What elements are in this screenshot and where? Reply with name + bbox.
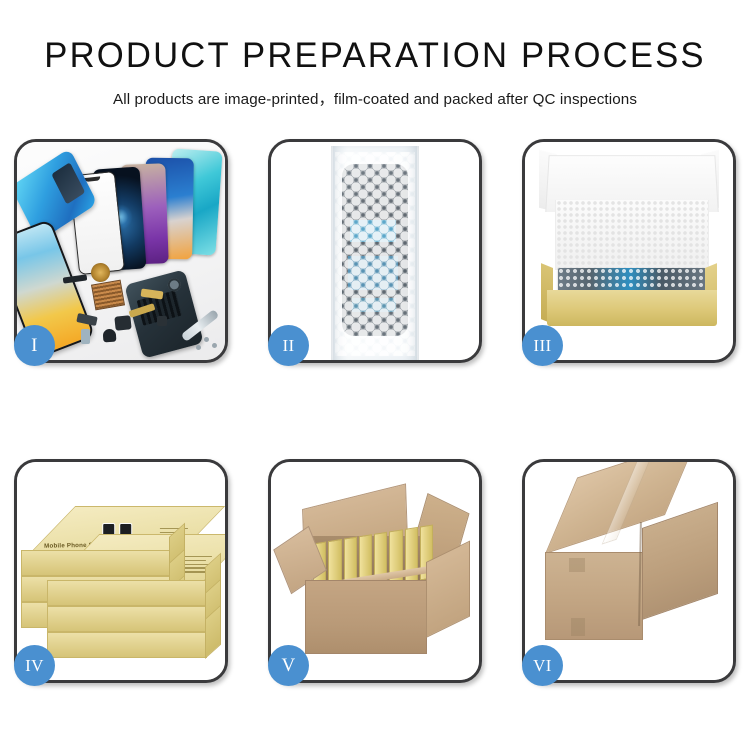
step-1-image <box>17 142 225 360</box>
process-step-panel-2: II <box>268 139 482 363</box>
step-badge-6: VI <box>522 645 563 686</box>
page-title: PRODUCT PREPARATION PROCESS <box>4 36 747 76</box>
screw-2 <box>212 343 217 348</box>
screw-3 <box>196 345 201 350</box>
retail-box-stack: Mobile Phone Spare Parts Mobile Phone Sp… <box>21 476 225 672</box>
step-2-image <box>271 142 479 360</box>
vibration-motor <box>103 329 117 343</box>
retail-box-edge-r1 <box>21 550 171 576</box>
small-chip <box>157 316 167 326</box>
process-step-panel-6: VI <box>522 459 736 683</box>
step-badge-5: V <box>268 645 309 686</box>
infographic-page: PRODUCT PREPARATION PROCESS All products… <box>0 0 750 750</box>
step-4-image: Mobile Phone Spare Parts Mobile Phone Sp… <box>17 462 225 680</box>
step-badge-4: IV <box>14 645 55 686</box>
bubble-wrap-edges <box>331 146 419 360</box>
box-front-wall <box>547 290 717 326</box>
step-5-image <box>271 462 479 680</box>
process-step-panel-1: I <box>14 139 228 363</box>
step-badge-2: II <box>268 325 309 366</box>
sealed-carton-front-face <box>545 552 643 640</box>
screw-1 <box>204 337 209 342</box>
step-badge-1: I <box>14 325 55 366</box>
sealed-carton-side-face <box>642 502 718 620</box>
sim-tray <box>81 329 90 344</box>
step-3-image <box>525 142 733 360</box>
process-step-panel-4: Mobile Phone Spare Parts Mobile Phone Sp… <box>14 459 228 683</box>
step-6-image <box>525 462 733 680</box>
retail-box-edge-f2 <box>47 606 207 632</box>
carton-scuff-2 <box>571 618 585 636</box>
retail-box-edge-f1 <box>47 580 207 606</box>
process-step-panel-5: V <box>268 459 482 683</box>
process-step-panel-3: III <box>522 139 736 363</box>
copper-chip <box>91 280 125 311</box>
retail-box-edge-f3 <box>47 632 207 658</box>
carton-scuff-1 <box>569 558 585 572</box>
header: PRODUCT PREPARATION PROCESS All products… <box>0 0 750 109</box>
process-steps-grid: I II <box>14 139 736 683</box>
carton-front-face <box>305 580 427 654</box>
step-badge-3: III <box>522 325 563 366</box>
foam-lining <box>555 200 709 270</box>
page-subtitle: All products are image-printed，film-coat… <box>0 87 750 109</box>
camera-module <box>114 315 131 331</box>
